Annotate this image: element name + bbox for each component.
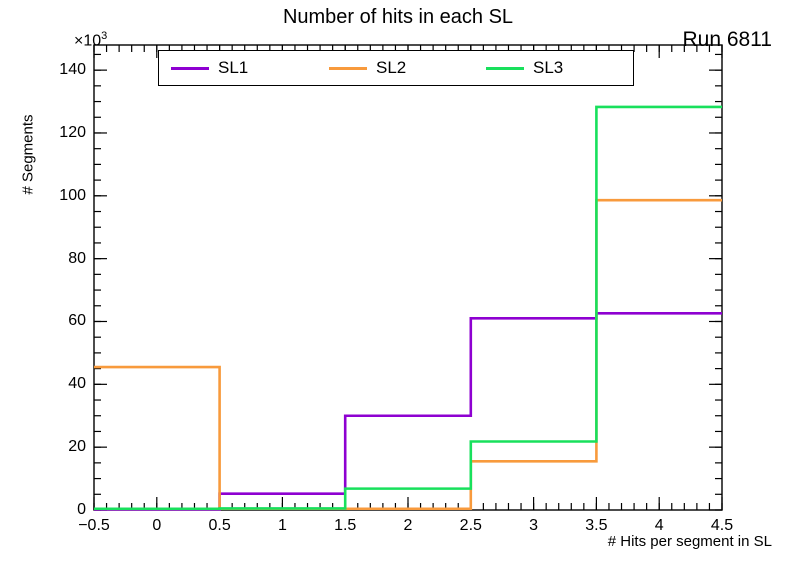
major-tick-marks — [94, 45, 722, 510]
x-tick-label: 3 — [529, 517, 538, 535]
y-tick-label: 140 — [59, 61, 86, 79]
legend-entry-sl1[interactable]: SL1 — [171, 51, 248, 85]
y-tick-label: 20 — [68, 438, 86, 456]
axis-frame — [94, 45, 722, 510]
y-tick-label: 40 — [68, 375, 86, 393]
y-tick-label: 80 — [68, 250, 86, 268]
legend-entry-sl3[interactable]: SL3 — [486, 51, 563, 85]
x-tick-label: 2.5 — [460, 517, 482, 535]
chart-canvas: Number of hits in each SL Run 6811 ×103 … — [0, 0, 796, 572]
x-tick-label: −0.5 — [78, 517, 110, 535]
x-tick-label: 0.5 — [208, 517, 230, 535]
histogram-line-sl1 — [94, 313, 722, 509]
x-tick-label: 1.5 — [334, 517, 356, 535]
legend-label-sl1: SL1 — [218, 58, 248, 78]
minor-tick-marks — [94, 45, 722, 510]
x-tick-label: 0 — [152, 517, 161, 535]
histogram-series-layer — [94, 107, 722, 509]
legend-entry-sl2[interactable]: SL2 — [329, 51, 406, 85]
y-tick-label: 60 — [68, 312, 86, 330]
x-tick-label: 1 — [278, 517, 287, 535]
legend-label-sl3: SL3 — [533, 58, 563, 78]
x-tick-label: 3.5 — [585, 517, 607, 535]
legend-swatch-sl2 — [329, 67, 367, 70]
x-tick-label: 4.5 — [711, 517, 733, 535]
legend: SL1SL2SL3 — [158, 50, 634, 86]
legend-swatch-sl3 — [486, 67, 524, 70]
y-tick-label: 120 — [59, 124, 86, 142]
legend-label-sl2: SL2 — [376, 58, 406, 78]
histogram-line-sl2 — [94, 200, 722, 509]
legend-swatch-sl1 — [171, 67, 209, 70]
x-tick-label: 2 — [404, 517, 413, 535]
y-tick-label: 100 — [59, 187, 86, 205]
histogram-line-sl3 — [94, 107, 722, 509]
x-tick-label: 4 — [655, 517, 664, 535]
